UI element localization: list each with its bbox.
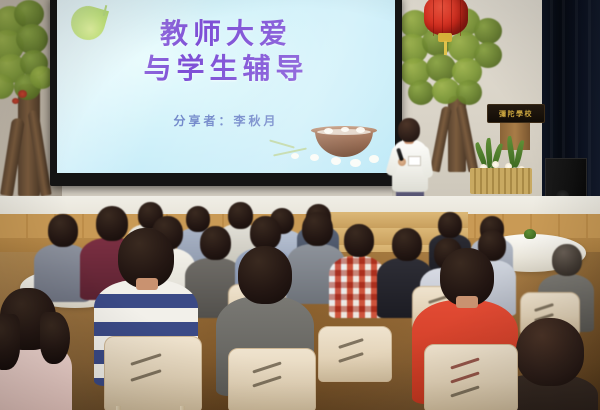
chair	[424, 344, 516, 410]
slide-title-line2: 与学生辅导	[57, 51, 395, 86]
slide-title-line1: 教师大爱	[57, 16, 395, 51]
plaque-post	[500, 120, 530, 150]
projection-screen-frame: 教师大爱 与学生辅导 分享者：李秋月	[50, 0, 402, 186]
slide-title: 教师大爱 与学生辅导	[57, 16, 395, 86]
chair	[228, 348, 314, 410]
table-plant	[524, 229, 536, 239]
chair	[318, 326, 390, 380]
photo-scene: 彌陀學校 教师大爱 与学生辅导 分享者：李秋月	[0, 0, 600, 410]
chair	[104, 336, 200, 410]
projection-screen: 教师大爱 与学生辅导 分享者：李秋月	[57, 0, 395, 173]
name-badge	[408, 156, 421, 166]
plaque-text: 彌陀學校	[499, 109, 533, 119]
school-name-plaque: 彌陀學校	[487, 104, 545, 123]
